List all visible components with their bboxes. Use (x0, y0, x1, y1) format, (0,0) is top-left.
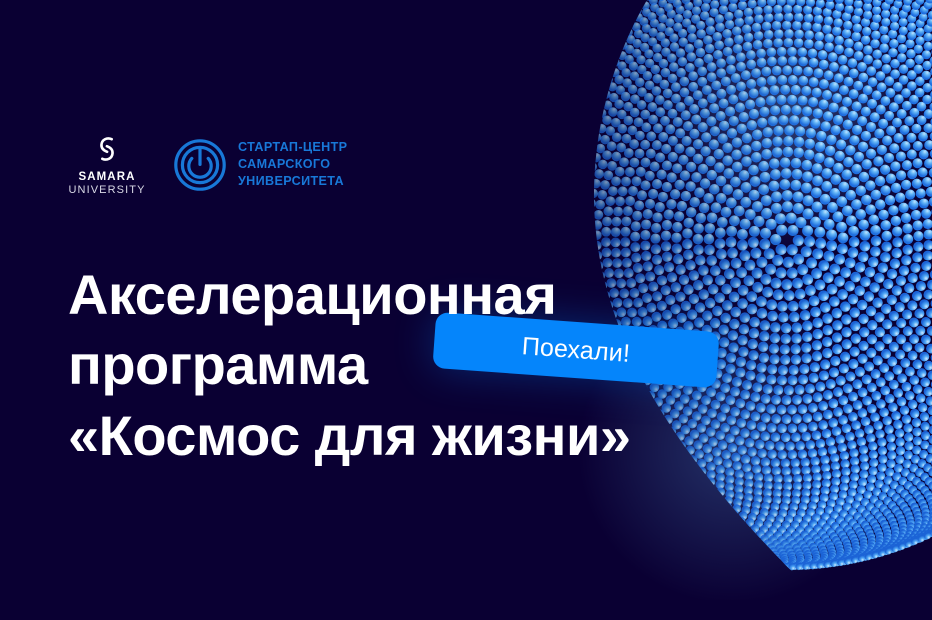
headline-line-3: «Космос для жизни» (68, 401, 728, 472)
samara-logo-line1: SAMARA (78, 171, 135, 184)
startup-logo-line1: СТАРТАП-ЦЕНТР (238, 139, 347, 156)
headline-line-1: Акселерационная (68, 260, 728, 331)
startup-logo-line2: САМАРСКОГО (238, 156, 347, 173)
sphere-glow-top (642, 0, 932, 260)
startup-center-logo: СТАРТАП-ЦЕНТР САМАРСКОГО УНИВЕРСИТЕТА (174, 139, 347, 191)
startup-logo-line3: УНИВЕРСИТЕТА (238, 173, 347, 190)
page-title: Акселерационная программа «Космос для жи… (68, 260, 728, 472)
logo-row: SAMARA UNIVERSITY СТАРТАП-ЦЕНТР САМАРСКО… (70, 132, 347, 197)
power-button-icon (174, 139, 226, 191)
headline-line-2: программа (68, 330, 728, 401)
samara-logo-line2: UNIVERSITY (69, 184, 146, 197)
samara-university-logo: SAMARA UNIVERSITY (70, 132, 144, 197)
promo-banner: SAMARA UNIVERSITY СТАРТАП-ЦЕНТР САМАРСКО… (0, 0, 932, 620)
startup-center-logo-text: СТАРТАП-ЦЕНТР САМАРСКОГО УНИВЕРСИТЕТА (238, 139, 347, 191)
samara-swirl-s-icon (90, 132, 124, 166)
